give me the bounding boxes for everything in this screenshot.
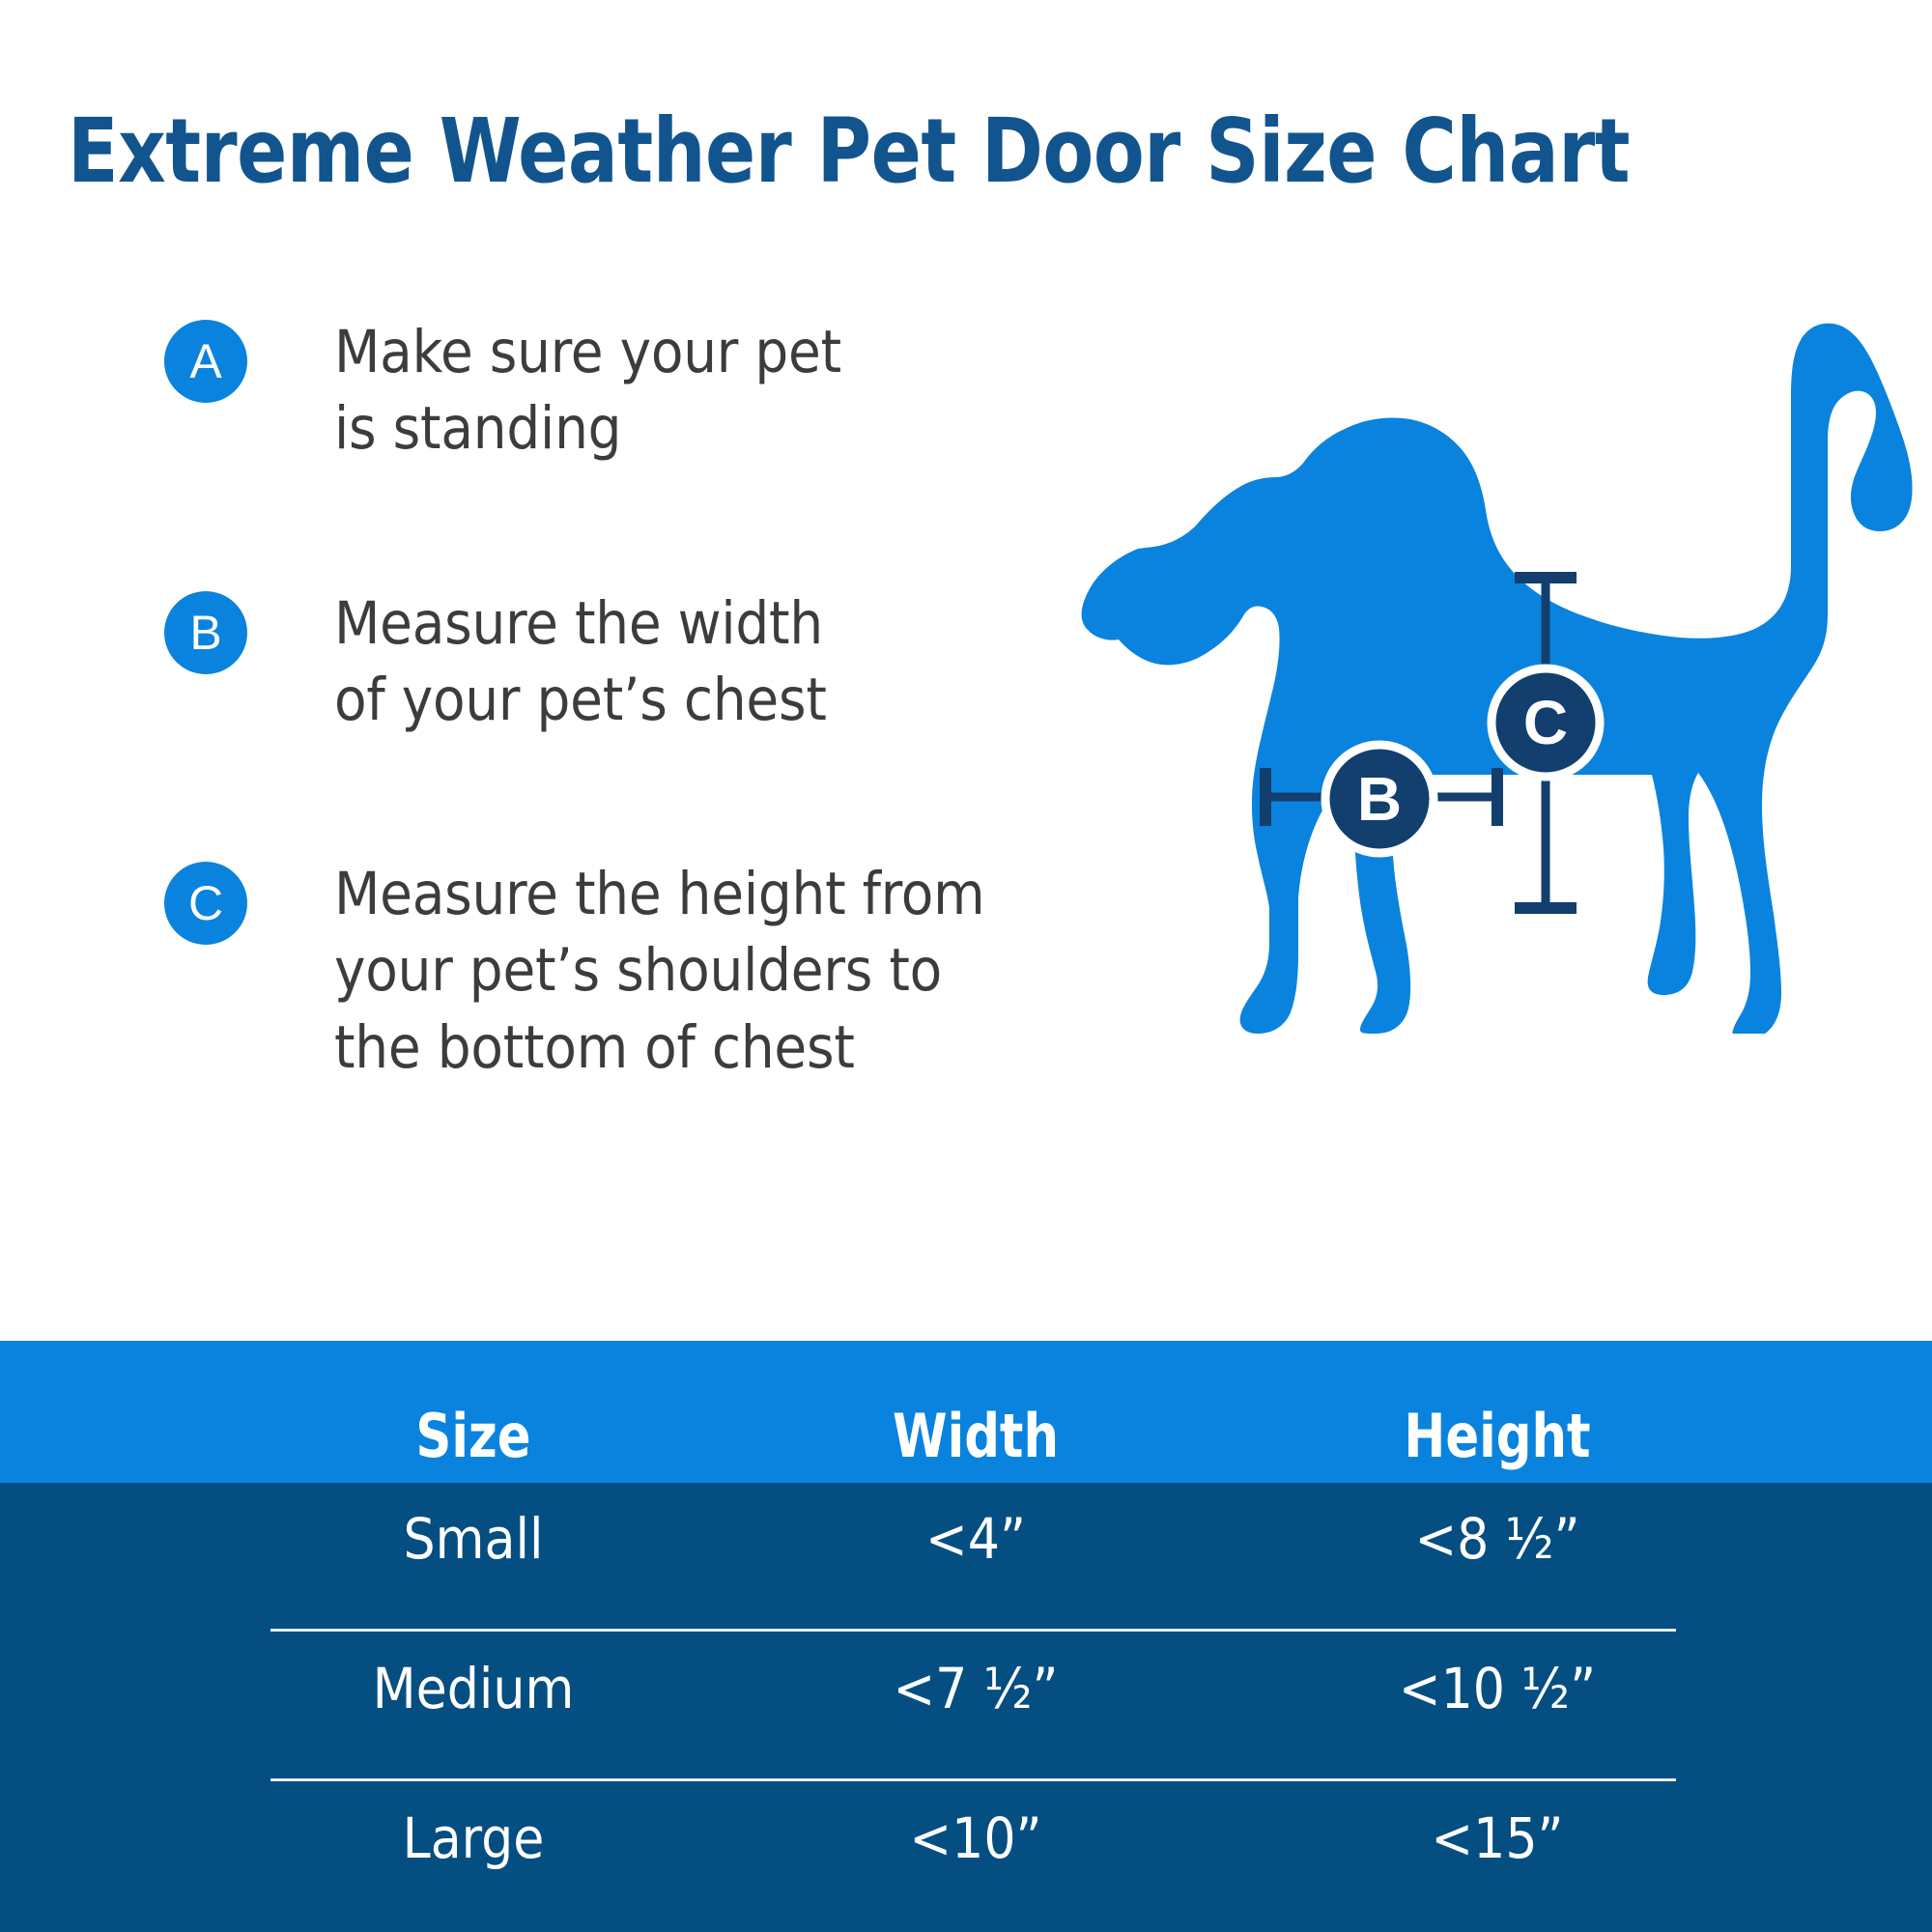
size-table: Size Width Height Small <4” <8 ½” Medium… (0, 1341, 1932, 1932)
step-text-c: Measure the height from your pet’s shoul… (334, 856, 984, 1086)
dog-silhouette-icon (1082, 324, 1913, 1034)
column-header-size: Size (287, 1401, 660, 1471)
table-row-divider (270, 1778, 1676, 1781)
cell-width-large: <10” (773, 1805, 1179, 1871)
table-row-divider (270, 1629, 1676, 1632)
step-text-a: Make sure your pet is standing (334, 314, 841, 468)
cell-size-medium: Medium (270, 1656, 676, 1721)
cell-height-large: <15” (1294, 1805, 1700, 1871)
page-title: Extreme Weather Pet Door Size Chart (68, 106, 1756, 197)
cell-size-small: Small (270, 1506, 676, 1572)
size-chart-page: Extreme Weather Pet Door Size Chart A Ma… (0, 0, 1932, 1932)
step-badge-b: B (164, 591, 247, 674)
cell-height-medium: <10 ½” (1294, 1656, 1700, 1721)
illustration-badge-b: B (1325, 745, 1434, 853)
cell-size-large: Large (270, 1805, 676, 1871)
step-c-line-2: your pet’s shoulders to (334, 932, 984, 1009)
size-table-header-row: Size Width Height (0, 1397, 1932, 1474)
step-text-b: Measure the width of your pet’s chest (334, 585, 827, 739)
step-a-line-2: is standing (334, 390, 841, 467)
step-b-line-2: of your pet’s chest (334, 662, 827, 738)
cell-height-small: <8 ½” (1294, 1506, 1700, 1572)
step-b-line-1: Measure the width (334, 585, 827, 662)
illustration-badge-c-label: C (1523, 688, 1568, 757)
column-header-width: Width (789, 1401, 1162, 1471)
illustration-badge-c: C (1492, 668, 1600, 777)
illustration-badge-b-label: B (1357, 764, 1402, 834)
step-c-line-1: Measure the height from (334, 856, 984, 932)
step-a-line-1: Make sure your pet (334, 314, 841, 390)
cell-width-small: <4” (773, 1506, 1179, 1572)
step-c-line-3: the bottom of chest (334, 1009, 984, 1086)
dog-illustration: B C (995, 319, 1922, 1034)
step-badge-c: C (164, 862, 247, 945)
step-badge-a: A (164, 320, 247, 403)
cell-width-medium: <7 ½” (773, 1656, 1179, 1721)
column-header-height: Height (1311, 1401, 1684, 1471)
